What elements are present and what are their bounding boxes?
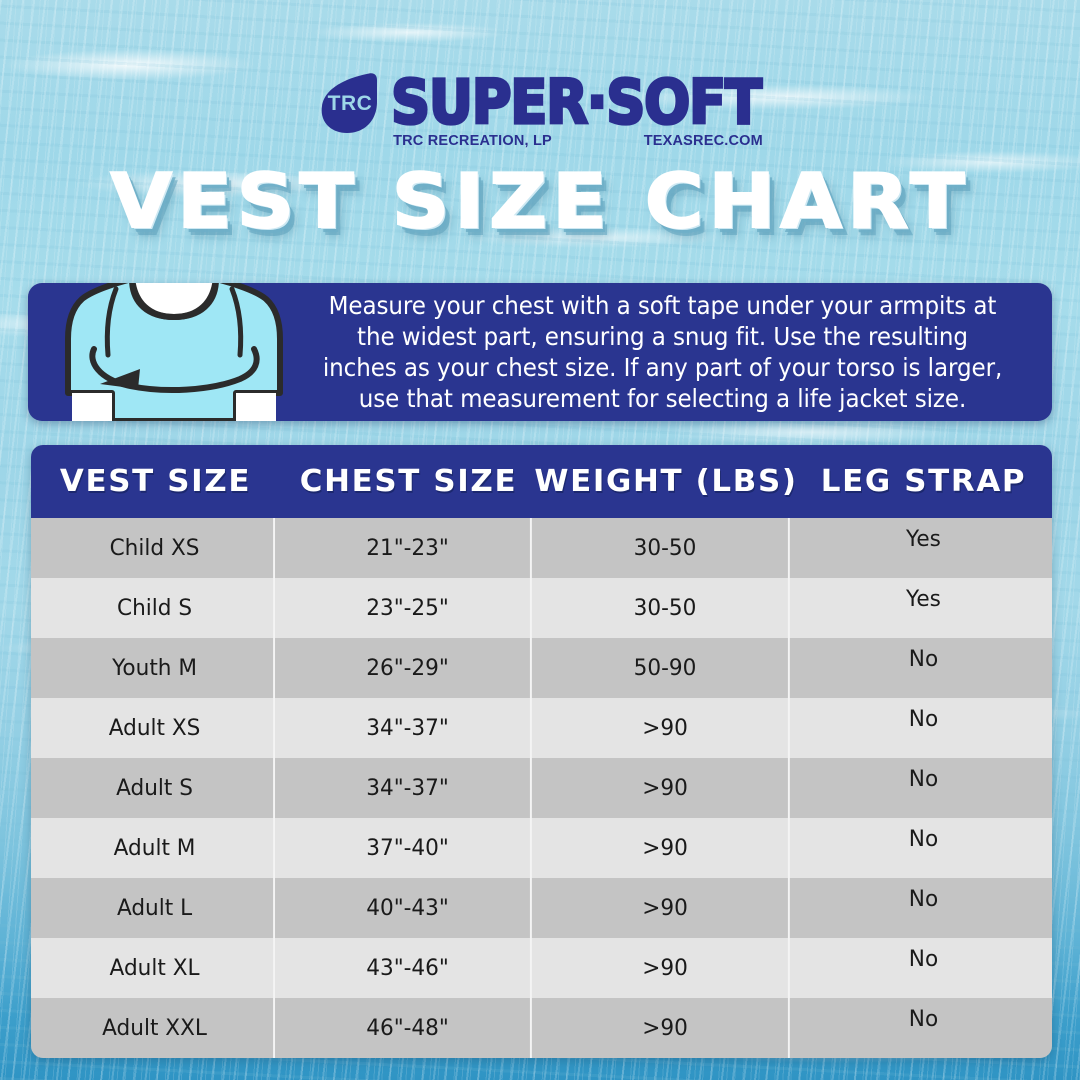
cell-weight: 30-50 [542,518,790,578]
cell-vest-size: Adult XS [36,698,275,758]
cell-vest-size: Adult XL [36,938,275,998]
cell-chest-size: 34"-37" [285,758,532,818]
trc-droplet-icon: TRC [319,72,381,134]
table-row: Adult S34"-37">90No [31,758,1052,818]
cell-chest-size: 40"-43" [285,878,532,938]
cell-vest-size: Adult XXL [36,998,275,1058]
cell-weight: >90 [542,698,790,758]
table-row: Adult M37"-40">90No [31,818,1052,878]
supersoft-wordmark: SUPER·SOFT TRC RECREATION, LP TEXASREC.C… [391,76,761,130]
table-row: Adult XL43"-46">90No [31,938,1052,998]
column-header-leg-strap: LEG STRAP [791,464,1052,499]
cell-leg-strap: No [800,758,1047,818]
column-header-weight: WEIGHT (LBS) [533,464,799,499]
brand-logo: TRC SUPER·SOFT TRC RECREATION, LP TEXASR… [0,62,1080,144]
cell-vest-size: Adult S [36,758,275,818]
cell-weight: >90 [542,998,790,1058]
cell-chest-size: 26"-29" [285,638,532,698]
cell-leg-strap: No [800,878,1047,938]
website-url: TEXASREC.COM [644,133,763,149]
cell-weight: >90 [542,758,790,818]
table-row: Child XS21"-23"30-50Yes [31,518,1052,578]
table-row: Youth M26"-29"50-90No [31,638,1052,698]
cell-weight: >90 [542,818,790,878]
page-title: VEST SIZE CHART [0,155,1080,247]
cell-vest-size: Child XS [36,518,275,578]
cell-leg-strap: Yes [800,578,1047,638]
cell-weight: >90 [542,938,790,998]
measure-instruction-panel: Measure your chest with a soft tape unde… [28,283,1052,421]
droplet-label: TRC [328,92,373,115]
torso-illustration [28,283,293,421]
cell-chest-size: 23"-25" [285,578,532,638]
table-row: Adult L40"-43">90No [31,878,1052,938]
instruction-text-block: Measure your chest with a soft tape unde… [293,283,1052,421]
cell-chest-size: 34"-37" [285,698,532,758]
cell-vest-size: Youth M [36,638,275,698]
vest-size-chart-page: TRC SUPER·SOFT TRC RECREATION, LP TEXASR… [0,0,1080,1080]
column-header-chest-size: CHEST SIZE [276,464,541,499]
instruction-paragraph: Measure your chest with a soft tape unde… [319,290,1006,414]
cell-chest-size: 43"-46" [285,938,532,998]
cell-vest-size: Adult L [36,878,275,938]
cell-leg-strap: No [800,698,1047,758]
column-header-vest-size: VEST SIZE [31,464,284,499]
table-row: Adult XS34"-37">90No [31,698,1052,758]
cell-vest-size: Child S [36,578,275,638]
cell-leg-strap: No [800,818,1047,878]
cell-leg-strap: No [800,638,1047,698]
cell-vest-size: Adult M [36,818,275,878]
size-table: VEST SIZE CHEST SIZE WEIGHT (LBS) LEG ST… [31,445,1052,1058]
cell-chest-size: 37"-40" [285,818,532,878]
cell-leg-strap: Yes [800,518,1047,578]
cell-chest-size: 46"-48" [285,998,532,1058]
table-header-row: VEST SIZE CHEST SIZE WEIGHT (LBS) LEG ST… [31,445,1052,518]
table-row: Adult XXL46"-48">90No [31,998,1052,1058]
wordmark-subline: TRC RECREATION, LP TEXASREC.COM [393,133,763,149]
wordmark-text: SUPER·SOFT [391,73,761,133]
cell-chest-size: 21"-23" [285,518,532,578]
table-body: Child XS21"-23"30-50YesChild S23"-25"30-… [31,518,1052,1058]
cell-leg-strap: No [800,938,1047,998]
cell-weight: 50-90 [542,638,790,698]
company-name: TRC RECREATION, LP [393,133,552,149]
cell-leg-strap: No [800,998,1047,1058]
table-row: Child S23"-25"30-50Yes [31,578,1052,638]
cell-weight: >90 [542,878,790,938]
cell-weight: 30-50 [542,578,790,638]
